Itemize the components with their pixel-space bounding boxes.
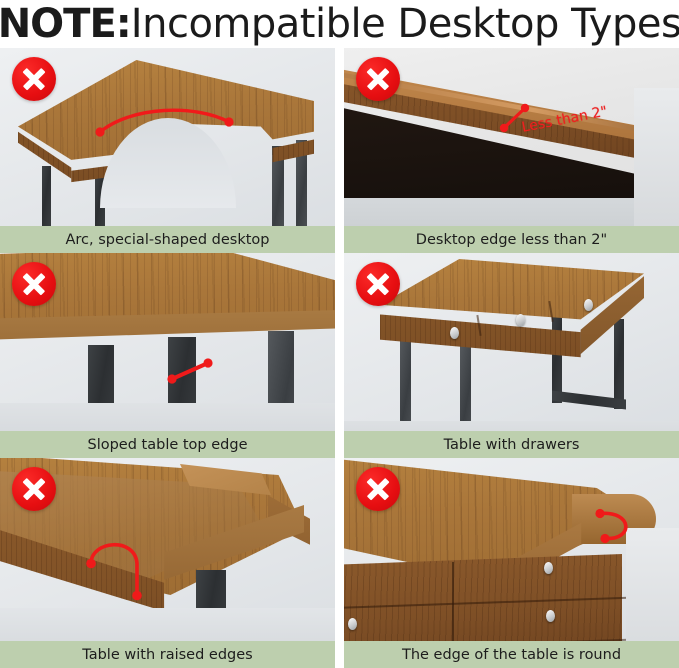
page-title: NOTE:Incompatible Desktop Types bbox=[0, 4, 679, 44]
panel-table-with-drawers[interactable]: Table with drawers bbox=[344, 253, 679, 458]
panel-1-caption-text: Arc, special-shaped desktop bbox=[66, 232, 270, 248]
panel-5-caption-text: Table with raised edges bbox=[82, 647, 252, 663]
page-title-rest: Incompatible Desktop Types bbox=[131, 1, 679, 47]
x-circle-icon bbox=[12, 467, 56, 511]
drawer-knob bbox=[544, 562, 553, 574]
x-circle-icon bbox=[356, 262, 400, 306]
drawer-knob bbox=[584, 299, 593, 311]
drawer-knob bbox=[546, 610, 555, 622]
x-circle-icon bbox=[12, 262, 56, 306]
x-circle-icon bbox=[356, 467, 400, 511]
panel-3-caption-text: Sloped table top edge bbox=[88, 437, 248, 453]
drawer-knob bbox=[516, 314, 525, 326]
panel-1-caption: Arc, special-shaped desktop bbox=[0, 226, 335, 253]
panel-thin-edge[interactable]: Less than 2" Desktop edge less than 2" bbox=[344, 48, 679, 253]
panel-6-caption: The edge of the table is round bbox=[344, 641, 679, 668]
drawer-knob bbox=[348, 618, 357, 630]
infographic-sheet: NOTE:Incompatible Desktop Types bbox=[0, 0, 679, 668]
panel-sloped-edge[interactable]: Sloped table top edge bbox=[0, 253, 335, 458]
panel-grid: Arc, special-shaped desktop bbox=[0, 48, 679, 668]
x-circle-icon bbox=[356, 57, 400, 101]
panel-4-caption-text: Table with drawers bbox=[444, 437, 580, 453]
panel-arc-desktop[interactable]: Arc, special-shaped desktop bbox=[0, 48, 335, 253]
panel-6-caption-text: The edge of the table is round bbox=[402, 647, 621, 663]
panel-round-edge[interactable]: The edge of the table is round bbox=[344, 458, 679, 668]
page-title-prefix: NOTE: bbox=[0, 1, 131, 47]
panel-3-caption: Sloped table top edge bbox=[0, 431, 335, 458]
drawer-knob bbox=[450, 327, 459, 339]
panel-2-caption-text: Desktop edge less than 2" bbox=[416, 232, 607, 248]
x-circle-icon bbox=[12, 57, 56, 101]
panel-raised-edges[interactable]: Table with raised edges bbox=[0, 458, 335, 668]
panel-4-caption: Table with drawers bbox=[344, 431, 679, 458]
grid-gutter-row2 bbox=[335, 253, 344, 458]
title-bar: NOTE:Incompatible Desktop Types bbox=[0, 0, 679, 48]
panel-5-caption: Table with raised edges bbox=[0, 641, 335, 668]
panel-2-caption: Desktop edge less than 2" bbox=[344, 226, 679, 253]
grid-gutter-row1 bbox=[335, 48, 344, 253]
grid-gutter-row3 bbox=[335, 458, 344, 668]
